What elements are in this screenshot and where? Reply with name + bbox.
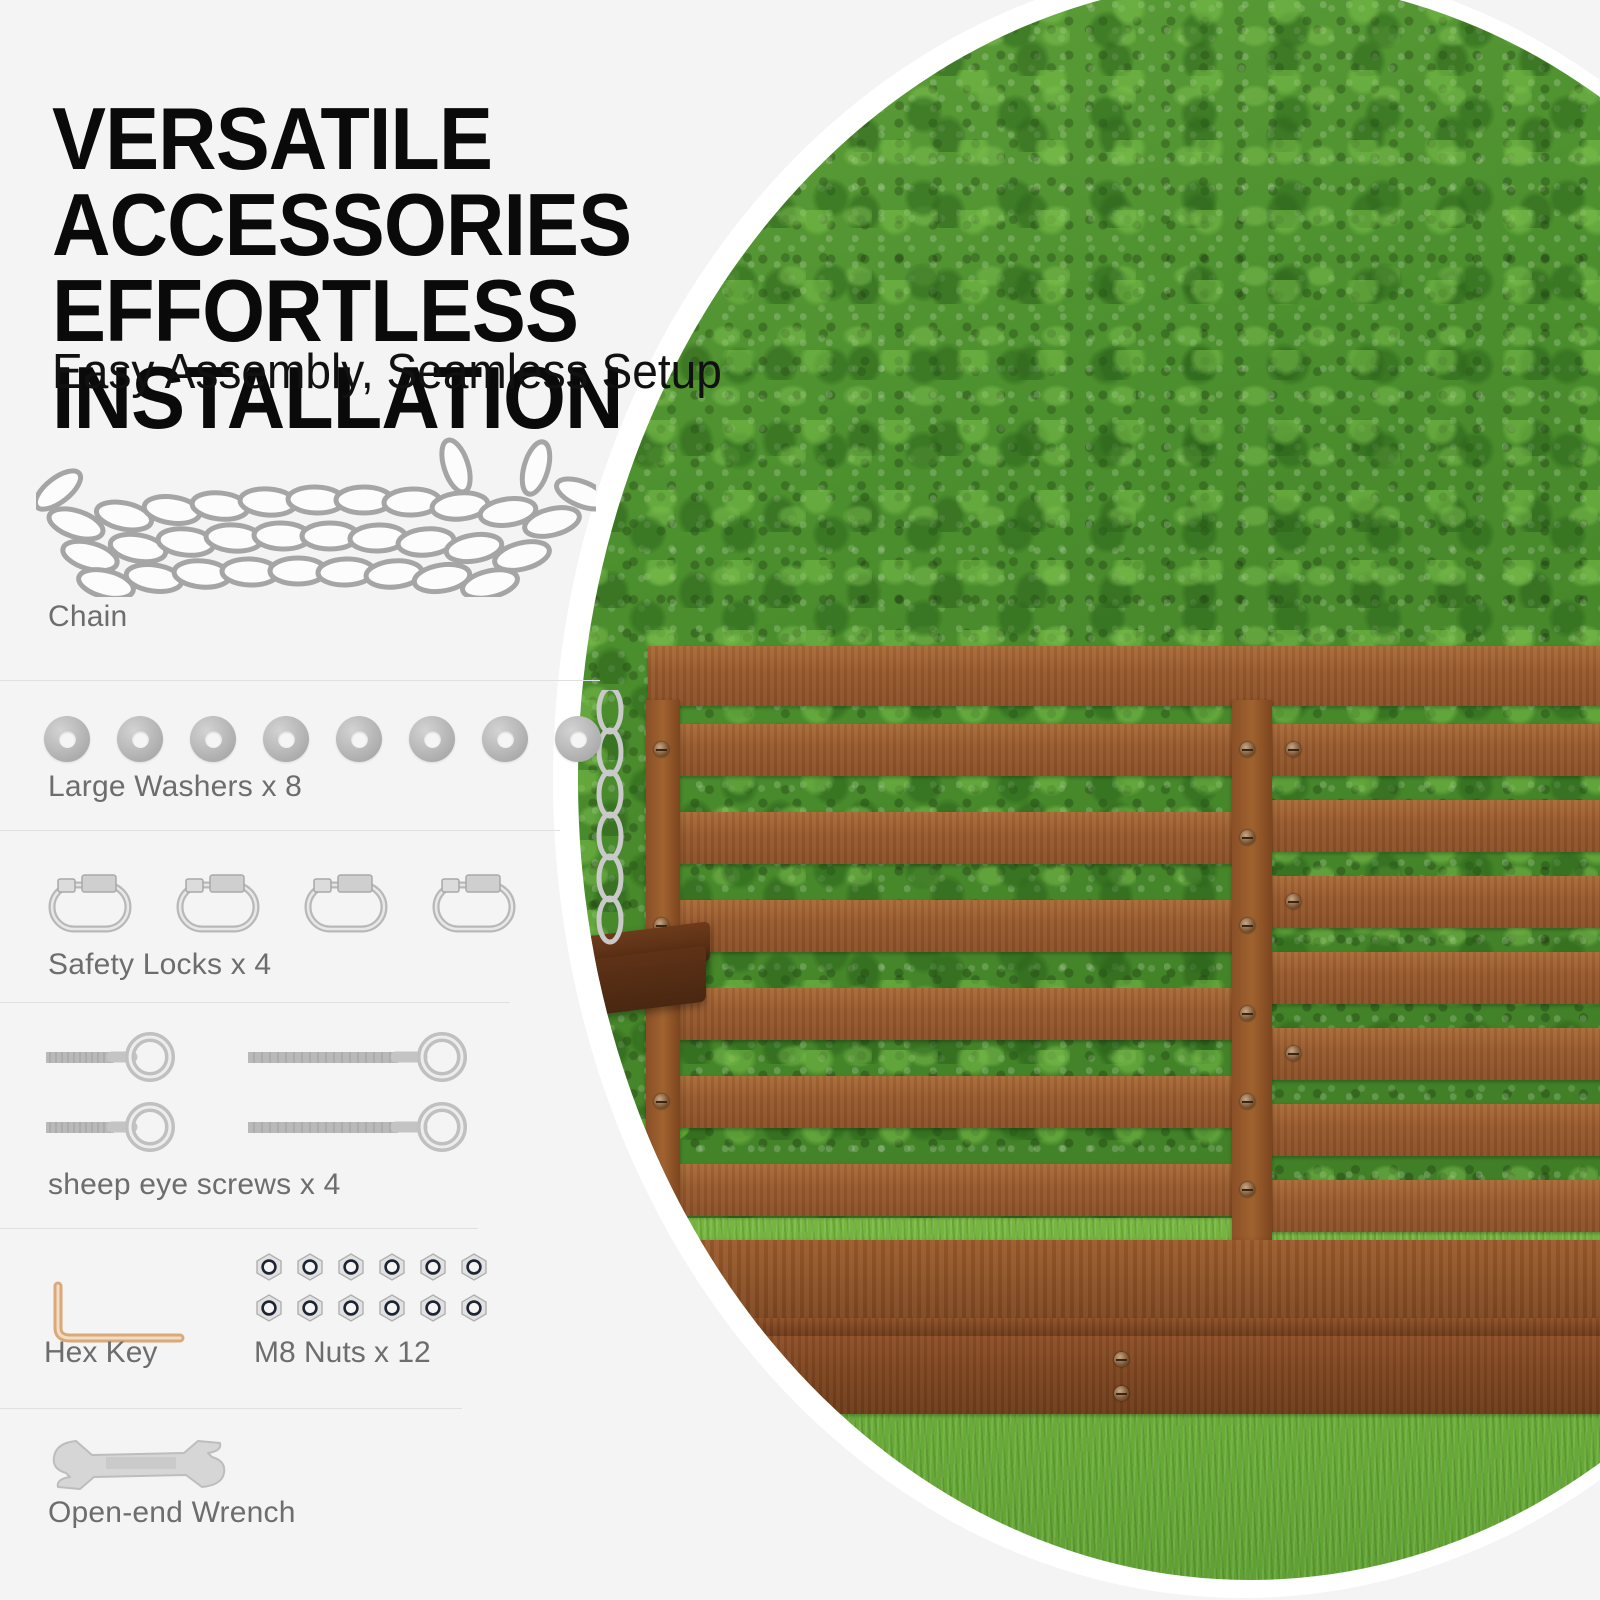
- accessory-label: Hex Key: [44, 1336, 244, 1370]
- screw: [1240, 918, 1255, 933]
- accessory-label: Chain: [0, 600, 620, 634]
- subheadline: Easy Assembly, Seamless Setup: [52, 344, 722, 400]
- divider: [0, 1228, 478, 1229]
- screw: [1240, 1006, 1255, 1021]
- screw: [1286, 894, 1301, 909]
- eye-screw-icon: [246, 1026, 496, 1088]
- hex-nut-icon: [336, 1252, 366, 1282]
- washer-icon: [336, 716, 382, 762]
- washer-icon: [482, 716, 528, 762]
- eye-screw-icon: [246, 1096, 496, 1158]
- screw: [654, 1094, 669, 1109]
- accessories-list: Chain Large Washers x 8: [0, 432, 620, 1588]
- accessory-label: sheep eye screws x 4: [0, 1162, 620, 1202]
- backrest-slat: [648, 724, 1248, 776]
- tool-label-row: Hex Key M8 Nuts x 12: [0, 1336, 620, 1370]
- accessory-item-wrench: Open-end Wrench: [0, 1408, 620, 1588]
- screw: [1286, 742, 1301, 757]
- backrest-slat: [1270, 1104, 1600, 1156]
- eye-screw-icon: [44, 1096, 204, 1158]
- chain-coil-icon: [36, 432, 596, 600]
- hex-nut-icon: [418, 1293, 448, 1323]
- screw: [1240, 830, 1255, 845]
- backrest-slat: [1270, 724, 1600, 776]
- quick-link-icon: [428, 871, 520, 937]
- hex-nut-icon: [459, 1252, 489, 1282]
- washer-icon: [263, 716, 309, 762]
- hex-nut-icon: [295, 1252, 325, 1282]
- screw: [1240, 1094, 1255, 1109]
- eye-screw-row: [44, 1022, 620, 1092]
- accessory-item-hexkey-nuts: Hex Key M8 Nuts x 12: [0, 1228, 620, 1408]
- screw: [1286, 1046, 1301, 1061]
- divider: [0, 1002, 510, 1003]
- hex-nut-icon: [377, 1252, 407, 1282]
- accessory-item-chain: Chain: [0, 432, 620, 680]
- marketing-image-canvas: VERSATILE ACCESSORIESEFFORTLESS INSTALLA…: [0, 0, 1600, 1600]
- washer-icon: [409, 716, 455, 762]
- backrest-slat: [648, 988, 1248, 1040]
- backrest-top-rail: [648, 646, 1600, 706]
- accessory-item-washers: Large Washers x 8: [0, 680, 620, 830]
- screw: [1114, 1352, 1129, 1367]
- screw: [1114, 1386, 1129, 1401]
- quick-link-icon: [44, 871, 136, 937]
- hex-nut-icon: [254, 1252, 284, 1282]
- accessory-item-safety-locks: Safety Locks x 4: [0, 830, 620, 1002]
- hex-nut-icon: [295, 1293, 325, 1323]
- backrest-slat: [1270, 876, 1600, 928]
- washer-icon: [117, 716, 163, 762]
- open-end-wrench-icon: [0, 1408, 620, 1494]
- accessory-label: Open-end Wrench: [0, 1494, 620, 1530]
- tool-icon-group: [0, 1228, 620, 1336]
- accessory-label: Safety Locks x 4: [0, 948, 620, 982]
- seat-front-rail: [518, 1336, 1600, 1414]
- backrest-slat: [1270, 800, 1600, 852]
- backrest-slat: [648, 1076, 1248, 1128]
- backrest-slat: [648, 812, 1248, 864]
- screw: [1240, 1182, 1255, 1197]
- hex-nut-icon: [254, 1293, 284, 1323]
- backrest-slat: [1270, 1028, 1600, 1080]
- screw: [1240, 742, 1255, 757]
- eye-screw-icon: [44, 1026, 204, 1088]
- backrest-slat: [648, 1164, 1248, 1216]
- backrest-slat: [1270, 1180, 1600, 1232]
- seat-trim: [518, 1318, 1600, 1336]
- washer-icon: [190, 716, 236, 762]
- eye-screw-row: [44, 1092, 620, 1162]
- accessory-label: Large Washers x 8: [0, 770, 620, 804]
- headline-line-1: VERSATILE ACCESSORIES: [52, 89, 631, 274]
- hex-nut-icon: [418, 1252, 448, 1282]
- backrest-slat: [648, 900, 1248, 952]
- hex-nut-icon: [336, 1293, 366, 1323]
- accessory-item-eye-screws: sheep eye screws x 4: [0, 1002, 620, 1228]
- divider: [0, 830, 560, 831]
- eye-screw-icon-group: [0, 1002, 620, 1162]
- divider: [0, 680, 600, 681]
- washer-icon: [555, 716, 601, 762]
- screw: [654, 742, 669, 757]
- quick-link-icon: [300, 871, 392, 937]
- accessory-label: M8 Nuts x 12: [254, 1336, 431, 1370]
- hex-nut-icon: [459, 1293, 489, 1323]
- washer-icon-group: [0, 680, 620, 770]
- backrest-slat: [1270, 952, 1600, 1004]
- divider: [0, 1408, 462, 1409]
- hex-nut-icon: [377, 1293, 407, 1323]
- backrest-stile: [1232, 700, 1272, 1240]
- hex-nut-icon-group: [254, 1252, 500, 1323]
- washer-icon: [44, 716, 90, 762]
- quick-link-icon-group: [0, 830, 620, 948]
- quick-link-icon: [172, 871, 264, 937]
